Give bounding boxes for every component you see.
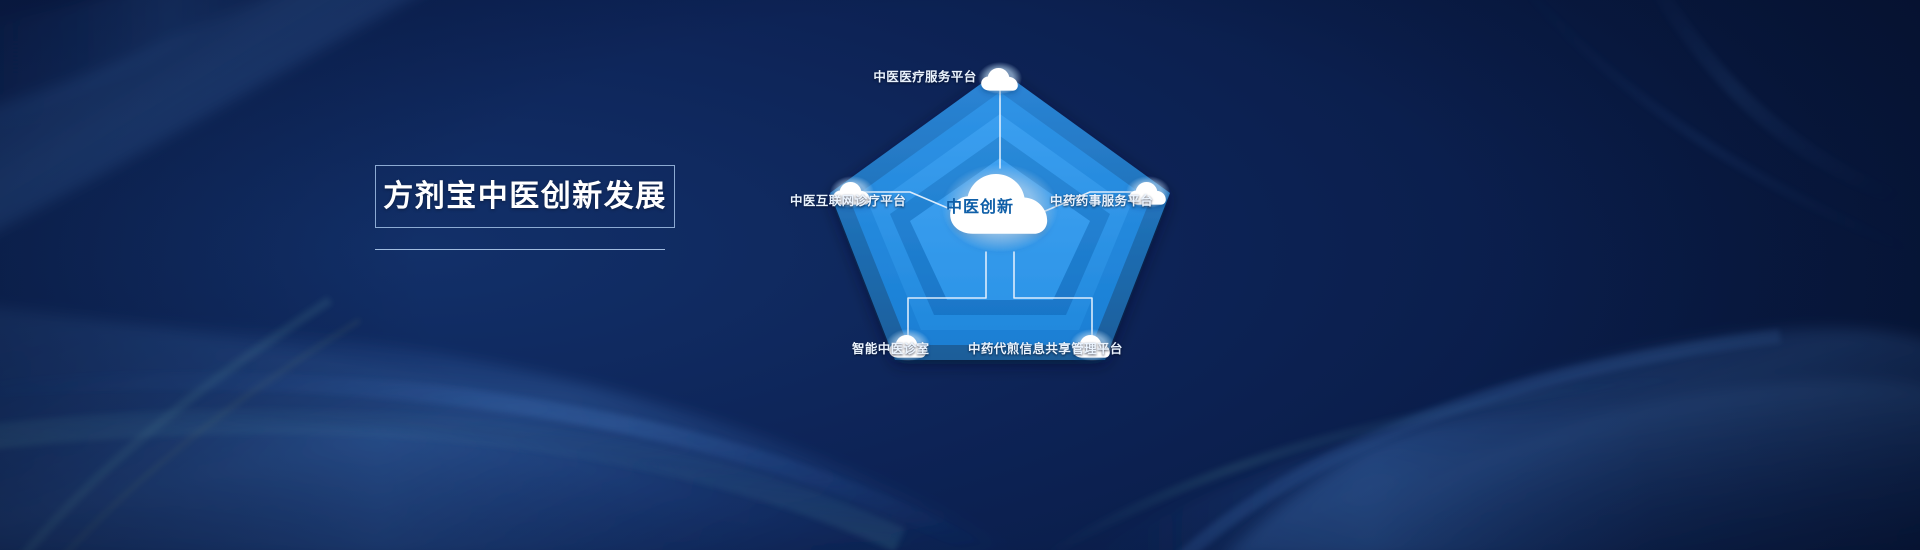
node-label-top: 中医医疗服务平台 [873,66,976,85]
title-underline [375,249,665,250]
pentagon-platform-diagram: 中医创新 中医医疗服务平台 中药药事服务平台 中药代煎信息共享管理平台 智能中医… [800,40,1200,370]
node-label-bottom-right: 中药代煎信息共享管理平台 [968,338,1123,357]
page-title: 方剂宝中医创新发展 [383,182,667,212]
title-block: 方剂宝中医创新发展 [375,165,675,250]
page-title-box: 方剂宝中医创新发展 [375,165,675,228]
center-node-label: 中医创新 [946,193,1014,217]
node-label-left: 中医互联网诊疗平台 [790,190,906,209]
node-label-right: 中药药事服务平台 [1050,190,1153,209]
vertex-cloud-top [978,62,1022,94]
node-label-bottom-left: 智能中医诊室 [852,338,929,357]
banner-stage: 方剂宝中医创新发展 [0,0,1920,550]
